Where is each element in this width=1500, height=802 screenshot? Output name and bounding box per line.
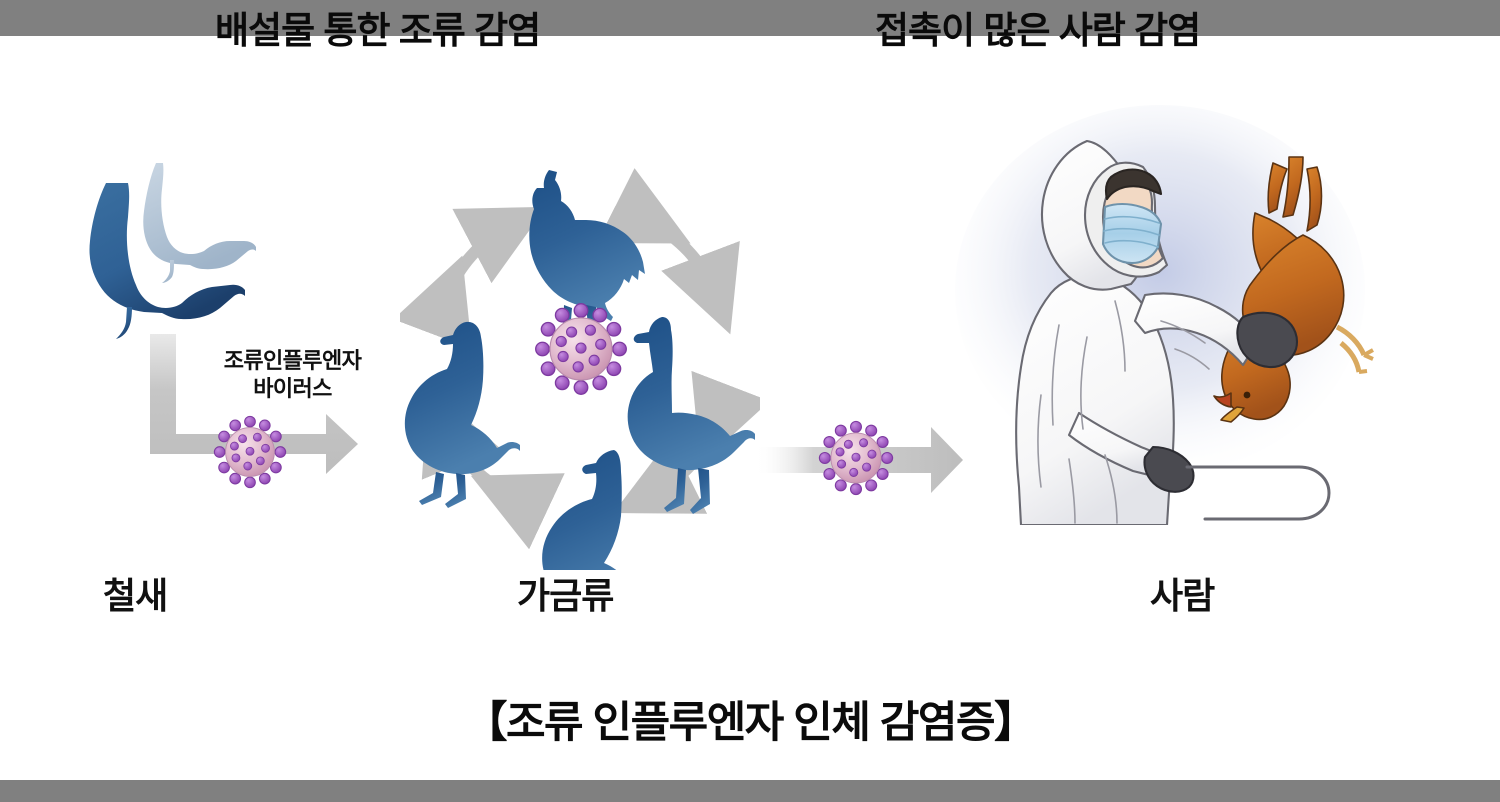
cycle-arrow-top-left	[447, 227, 508, 296]
pigeon-silhouette	[542, 450, 657, 570]
ppe-worker-illustration	[955, 95, 1375, 525]
virus-caption-line1: 조류인플루엔자	[185, 347, 400, 375]
heading-right-transmission: 접촉이 많은 사람 감염	[875, 12, 1200, 49]
flying-geese-icon	[70, 155, 300, 345]
poster-title: 【조류 인플루엔자 인체 감염증】	[0, 702, 1500, 745]
label-wild-birds: 철새	[103, 578, 167, 614]
quail-silhouette	[405, 322, 520, 508]
virus-caption: 조류인플루엔자 바이러스	[185, 347, 400, 402]
virus-particle-right	[818, 420, 894, 496]
heading-left-transmission: 배설물 통한 조류 감염	[215, 12, 540, 49]
infographic-canvas: 배설물 통한 조류 감염 접촉이 많은 사람 감염	[0, 0, 1500, 802]
bottom-gray-band	[0, 780, 1500, 802]
label-human: 사람	[1150, 578, 1214, 614]
label-poultry: 가금류	[517, 578, 613, 614]
goose-back-silhouette	[143, 163, 256, 283]
virus-particle-left	[213, 415, 287, 489]
virus-caption-line2: 바이러스	[185, 375, 400, 403]
duck-silhouette	[628, 317, 755, 514]
virus-particle-center	[534, 302, 628, 396]
cycle-arrow-top-right	[652, 224, 715, 294]
catching-tool	[1187, 467, 1329, 519]
